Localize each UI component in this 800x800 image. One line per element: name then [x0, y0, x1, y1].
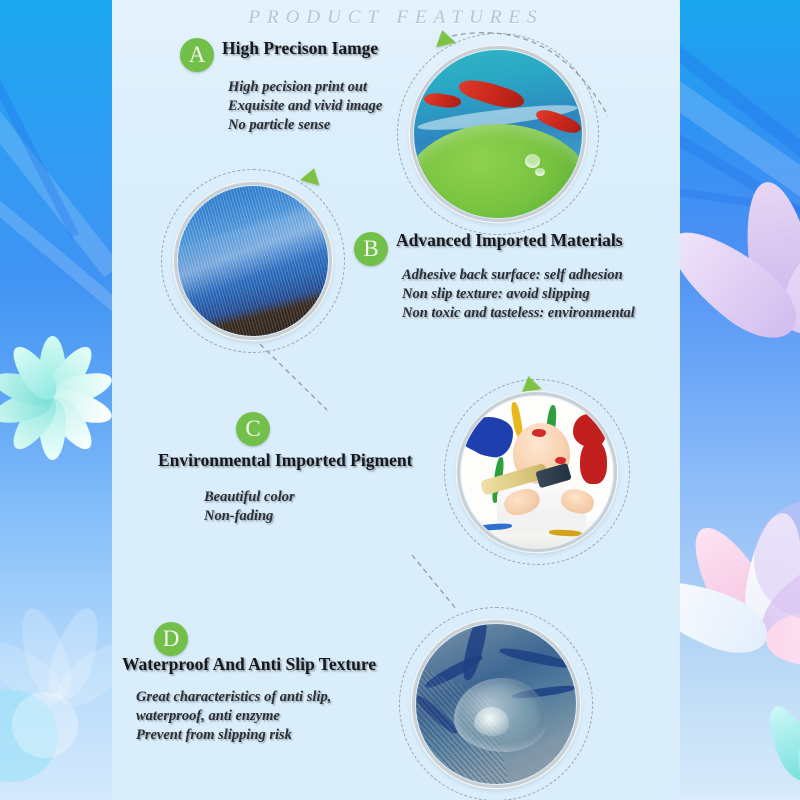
- feature-heading-d: Waterproof And Anti Slip Texture: [122, 654, 376, 675]
- main-content-panel: PRODUCT FEATURES A High Precison Iamge H…: [112, 0, 680, 800]
- feature-image-b: [174, 182, 332, 340]
- water-droplet: [525, 154, 540, 167]
- feature-heading-c: Environmental Imported Pigment: [158, 450, 412, 471]
- feature-heading-a: High Precison Iamge: [222, 38, 378, 59]
- feature-bullet: No particle sense: [228, 116, 382, 135]
- feature-bullets-a: High pecision print out Exquisite and vi…: [228, 78, 382, 135]
- feature-badge-a: A: [180, 38, 214, 72]
- paint-splatter: [580, 439, 607, 485]
- left-decorative-band: [0, 0, 112, 800]
- feature-bullet: Non toxic and tasteless: environmental: [402, 304, 635, 323]
- feature-bullet: Adhesive back surface: self adhesion: [402, 266, 635, 285]
- product-features-poster: PRODUCT FEATURES A High Precison Iamge H…: [0, 0, 800, 800]
- feature-bullet: Great characteristics of anti slip,: [136, 688, 331, 707]
- feature-image-c: [457, 392, 617, 552]
- connector-path-c-to-d: [412, 555, 457, 610]
- feature-bullet: Non slip texture: avoid slipping: [402, 285, 635, 304]
- painted-floor: [461, 518, 613, 548]
- paint-on-forehead: [532, 429, 546, 437]
- feature-badge-d: D: [154, 622, 188, 656]
- feature-badge-c: C: [236, 412, 270, 446]
- feature-bullet: High pecision print out: [228, 78, 382, 97]
- right-decorative-band: [680, 0, 800, 800]
- feature-bullet: Exquisite and vivid image: [228, 97, 382, 116]
- droplet-highlight: [474, 707, 509, 736]
- feature-image-d: [412, 620, 580, 788]
- feature-bullet: Prevent from slipping risk: [136, 726, 331, 745]
- koi-fish-pond-photo: [414, 50, 582, 218]
- feature-image-a: [410, 46, 586, 222]
- feature-bullets-d: Great characteristics of anti slip, wate…: [136, 688, 331, 745]
- feature-heading-b: Advanced Imported Materials: [396, 230, 623, 251]
- left-band-blob-2: [12, 692, 78, 758]
- water-droplet: [535, 168, 545, 176]
- feature-bullets-b: Adhesive back surface: self adhesion Non…: [402, 266, 635, 323]
- blue-fabric-texture-photo: [178, 186, 328, 336]
- water-droplet-texture-photo: [416, 624, 576, 784]
- fabric-sheen-layer: [178, 186, 328, 336]
- feature-bullet: Non-fading: [204, 507, 295, 526]
- feature-badge-b: B: [354, 232, 388, 266]
- lily-pad: [414, 124, 582, 218]
- feature-bullet: waterproof, anti enzyme: [136, 707, 331, 726]
- feature-bullet: Beautiful color: [204, 488, 295, 507]
- baby-painting-photo: [461, 396, 613, 548]
- feature-bullets-c: Beautiful color Non-fading: [204, 488, 295, 526]
